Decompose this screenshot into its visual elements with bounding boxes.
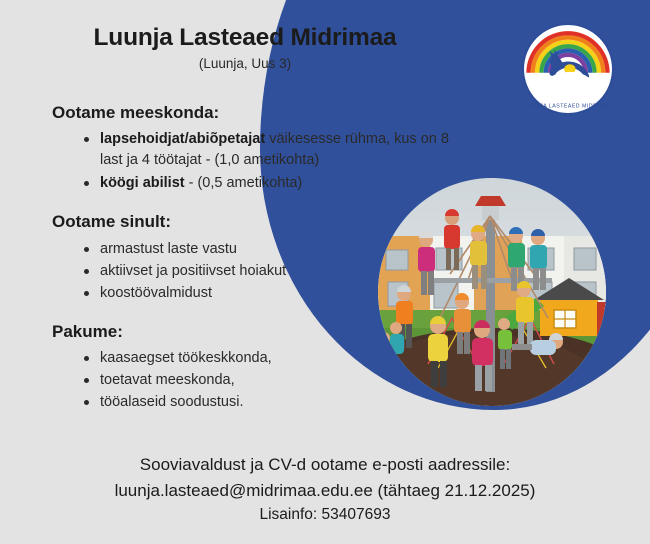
list-item-text: aktiivset ja positiivset hoiakut <box>100 263 286 279</box>
list-item-text: kaasaegset töökeskkonda, <box>100 350 272 366</box>
section-heading-expect: Ootame sinult: <box>52 212 472 232</box>
list-item: lapsehoidjat/abiõpetajat väikesesse rühm… <box>84 129 472 171</box>
poster-header: Luunja Lasteaed Midrimaa (Luunja, Uus 3) <box>0 24 490 72</box>
requirements-list-team: lapsehoidjat/abiõpetajat väikesesse rühm… <box>52 129 472 194</box>
contact-footer: Sooviavaldust ja CV-d ootame e-posti aad… <box>0 452 650 526</box>
list-item-text: koostöövalmidust <box>100 285 212 301</box>
job-posting-poster: LUUNJA LASTEAED MIDRIMAA <box>0 0 650 544</box>
organization-logo: LUUNJA LASTEAED MIDRIMAA <box>521 22 615 116</box>
footer-phone: Lisainfo: 53407693 <box>0 503 650 526</box>
list-item-text: - (0,5 ametikohta) <box>185 175 303 191</box>
list-item-bold: lapsehoidjat/abiõpetajat <box>100 131 265 147</box>
list-item: armastust laste vastu <box>84 239 472 260</box>
list-item-text: tööalaseid soodustusi. <box>100 394 244 410</box>
list-item: toetavat meeskonda, <box>84 370 472 391</box>
list-item: koostöövalmidust <box>84 283 472 304</box>
footer-email-deadline[interactable]: luunja.lasteaed@midrimaa.edu.ee (tähtaeg… <box>0 478 650 504</box>
benefits-list-offer: kaasaegset töökeskkonda, toetavat meesko… <box>52 348 472 413</box>
list-item: kaasaegset töökeskkonda, <box>84 348 472 369</box>
page-subtitle: (Luunja, Uus 3) <box>0 56 490 72</box>
svg-text:LUUNJA LASTEAED MIDRIMAA: LUUNJA LASTEAED MIDRIMAA <box>524 104 612 110</box>
list-item: aktiivset ja positiivset hoiakut <box>84 261 472 282</box>
poster-body: Ootame meeskonda: lapsehoidjat/abiõpetaj… <box>52 103 472 414</box>
list-item-text: toetavat meeskonda, <box>100 372 235 388</box>
list-item-text: armastust laste vastu <box>100 241 237 257</box>
section-heading-offer: Pakume: <box>52 322 472 342</box>
section-heading-team: Ootame meeskonda: <box>52 103 472 123</box>
list-item: tööalaseid soodustusi. <box>84 392 472 413</box>
footer-apply-instruction: Sooviavaldust ja CV-d ootame e-posti aad… <box>0 452 650 478</box>
page-title: Luunja Lasteaed Midrimaa <box>0 24 490 52</box>
requirements-list-expect: armastust laste vastu aktiivset ja posit… <box>52 239 472 304</box>
list-item: köögi abilist - (0,5 ametikohta) <box>84 173 472 194</box>
list-item-bold: köögi abilist <box>100 175 185 191</box>
